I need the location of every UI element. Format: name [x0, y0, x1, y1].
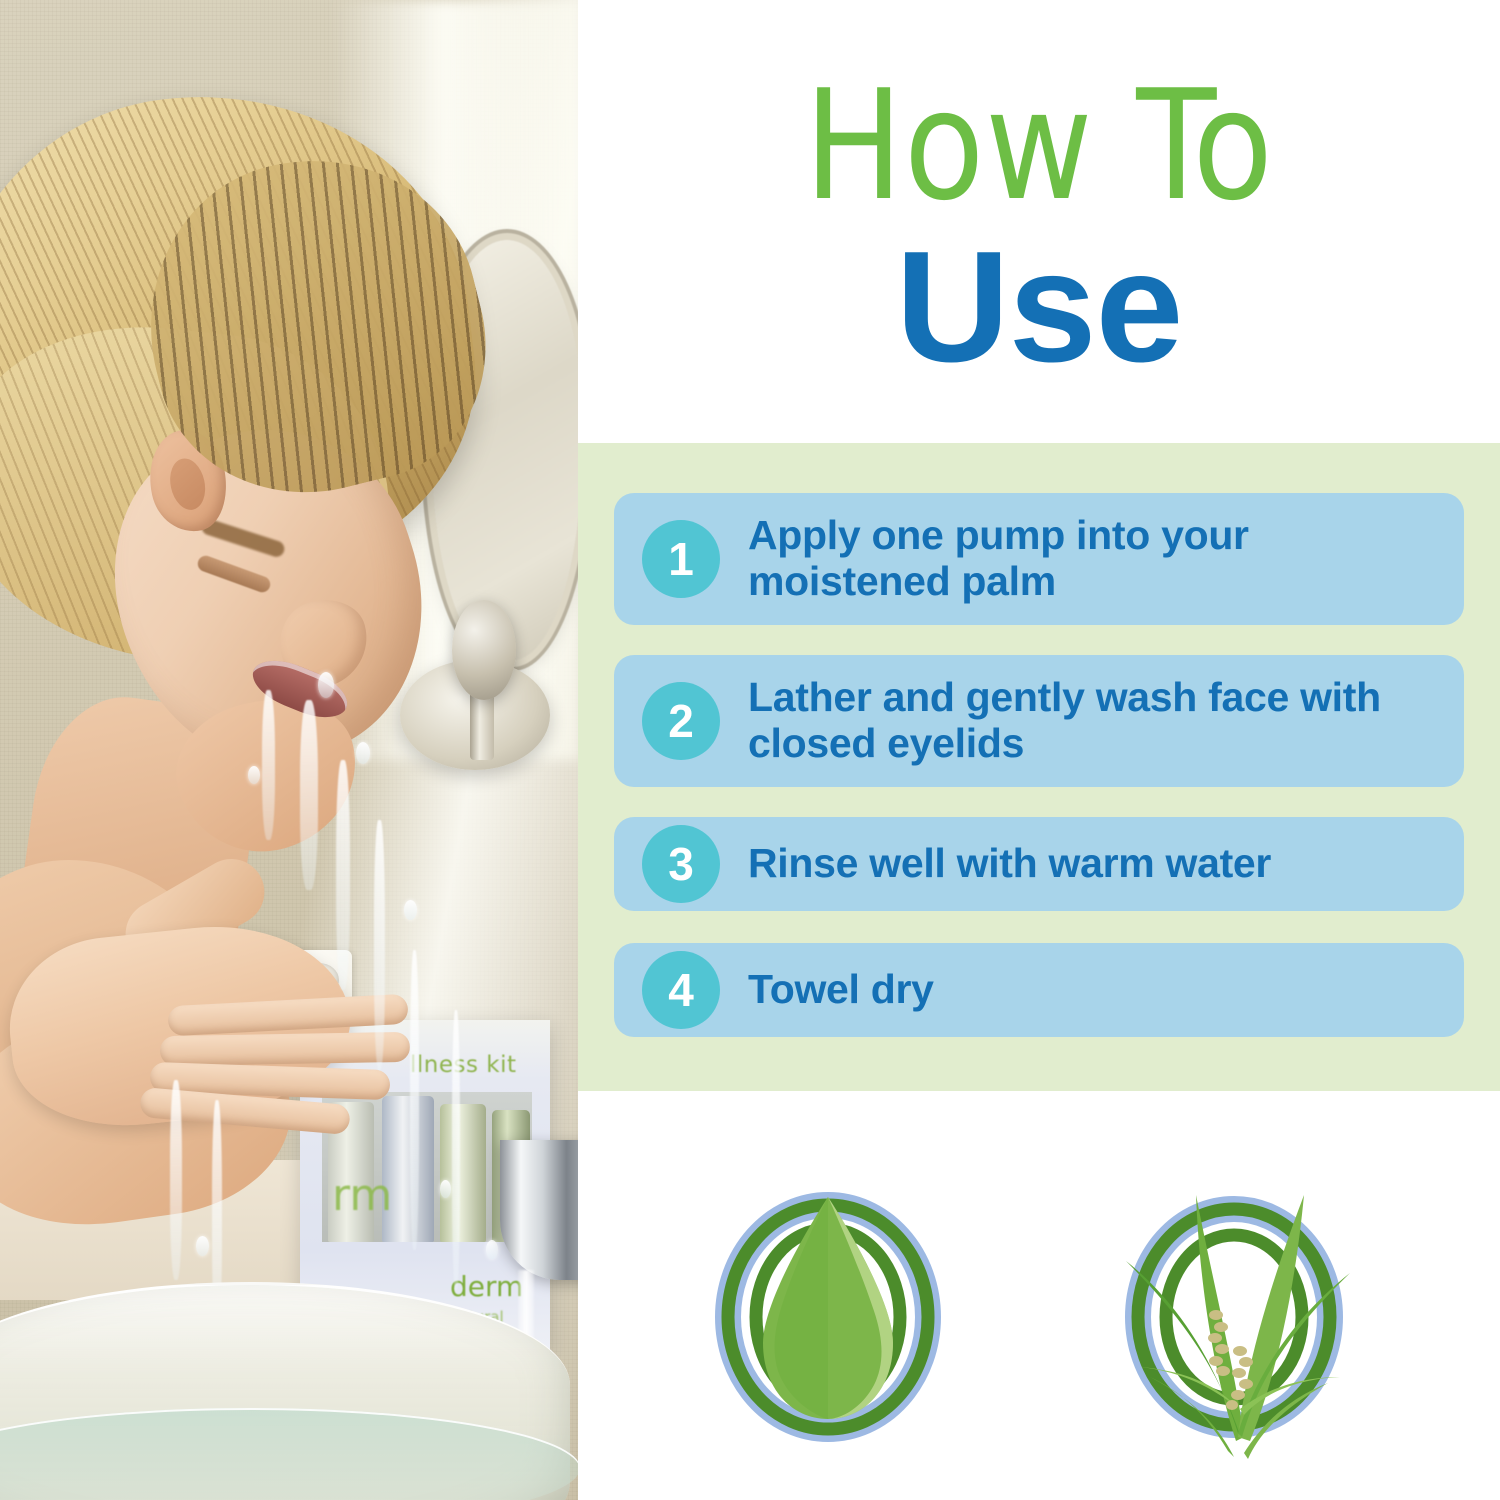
photo-water-stream [170, 1080, 182, 1280]
photo-water-stream [374, 820, 385, 1070]
photo-finger [160, 1032, 410, 1066]
step-number-badge-1: 1 [642, 520, 720, 598]
step-number-badge-3: 3 [642, 825, 720, 903]
step-text-4: Towel dry [748, 967, 934, 1013]
step-item-2[interactable]: 2 Lather and gently wash face with close… [614, 655, 1464, 787]
photo-water-stream [410, 950, 419, 1250]
step-number-badge-4: 4 [642, 951, 720, 1029]
page-root: llness kit rm derm natural [0, 0, 1500, 1500]
product-bottle [440, 1104, 486, 1242]
green-droplet-icon [678, 1165, 978, 1465]
title-line-how-to: How To [596, 70, 1481, 222]
content-panel: How To Use 1 Apply one pump into your mo… [578, 0, 1500, 1500]
step-item-1[interactable]: 1 Apply one pump into your moistened pal… [614, 493, 1464, 625]
tea-tree-leaves-icon [1088, 1165, 1388, 1465]
steps-panel: 1 Apply one pump into your moistened pal… [578, 443, 1500, 1091]
step-number-badge-2: 2 [642, 682, 720, 760]
hero-photo: llness kit rm derm natural [0, 0, 578, 1500]
photo-mirror-arm [452, 600, 516, 700]
step-text-3: Rinse well with warm water [748, 841, 1271, 887]
title-line-use: Use [578, 228, 1500, 386]
step-text-2: Lather and gently wash face with closed … [748, 675, 1444, 767]
benefit-icons-row [578, 1165, 1500, 1465]
photo-water-stream [262, 690, 275, 840]
step-text-1: Apply one pump into your moistened palm [748, 513, 1444, 605]
product-box-brand: derm [450, 1270, 523, 1303]
page-title: How To Use [578, 70, 1500, 386]
photo-water-stream [336, 760, 350, 990]
product-box-side-text: rm [332, 1170, 392, 1221]
step-item-3[interactable]: 3 Rinse well with warm water [614, 817, 1464, 911]
photo-water-stream [452, 1010, 460, 1290]
product-box-title: llness kit [410, 1052, 517, 1078]
photo-water-stream [300, 700, 318, 890]
step-item-4[interactable]: 4 Towel dry [614, 943, 1464, 1037]
